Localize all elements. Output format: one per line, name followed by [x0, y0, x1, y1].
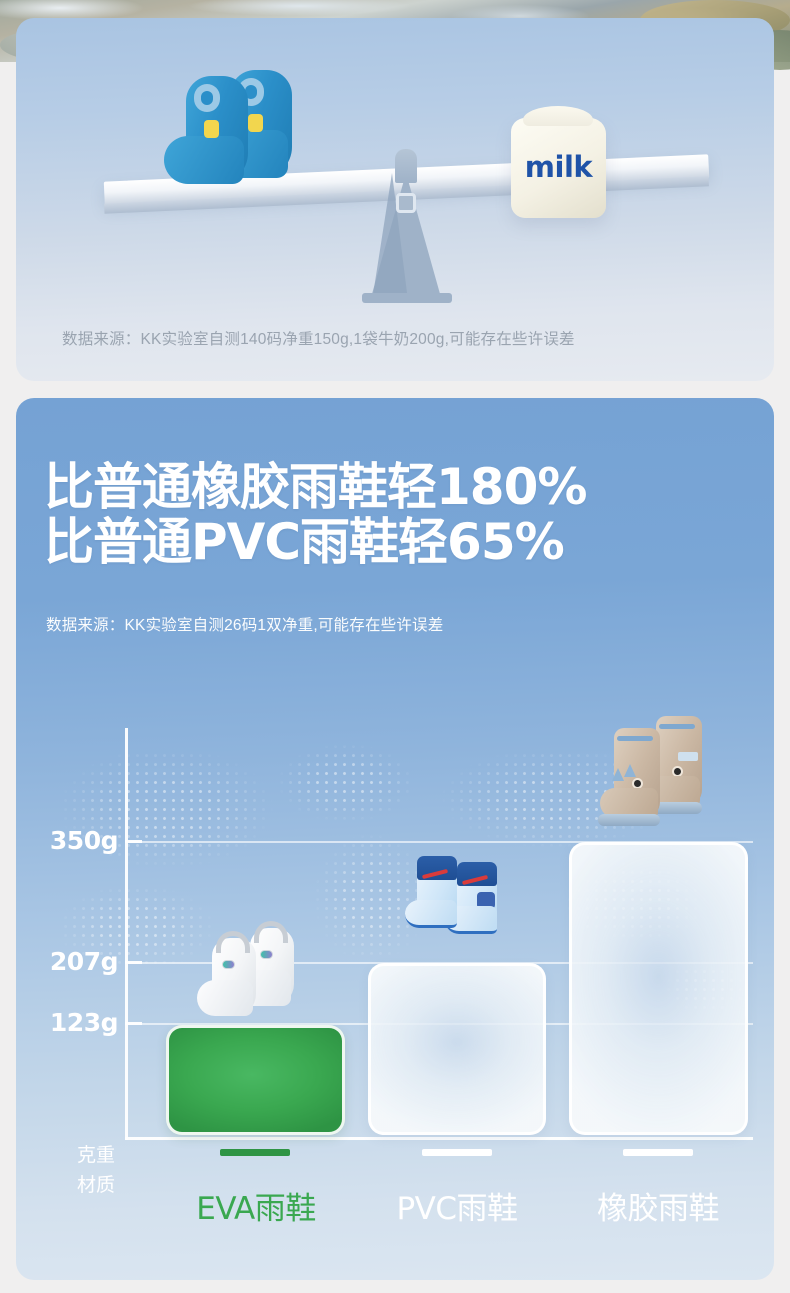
pvc-boot-foot-icon	[405, 900, 457, 928]
category-label-eva: EVA雨鞋	[146, 1183, 366, 1228]
weight-bar-chart: 350g 207g 123g 克重 材质 EVA雨鞋 PVC雨鞋 橡胶雨鞋	[16, 398, 774, 1280]
y-axis-label-123: 123g	[22, 1008, 118, 1037]
rubber-boots-image	[608, 716, 712, 828]
rubber-boot-tag-icon	[678, 752, 698, 761]
eva-boots-image	[204, 926, 304, 1024]
axis-caption-weight: 克重	[66, 1140, 126, 1167]
boot-tag-icon	[248, 114, 263, 132]
eva-boot-foot-icon	[197, 980, 253, 1016]
bar-underline-eva	[220, 1149, 290, 1156]
chart-x-axis	[125, 1137, 753, 1140]
y-axis-label-207: 207g	[22, 947, 118, 976]
category-label-rubber: 橡胶雨鞋	[548, 1183, 768, 1228]
weight-comparison-card: 比普通橡胶雨鞋轻180% 比普通PVC雨鞋轻65% 数据来源：KK实验室自测26…	[16, 398, 774, 1280]
eva-boot-eye-icon	[260, 950, 273, 959]
tick-123	[125, 1022, 142, 1025]
rubber-boot-front-icon	[614, 728, 660, 818]
bar-rubber	[569, 842, 748, 1135]
boot-tag-icon	[204, 120, 219, 138]
milk-bag-fold	[523, 106, 593, 126]
eva-boot-eye-icon	[222, 960, 235, 969]
pvc-boots-image	[413, 856, 505, 948]
boot-handle-icon	[194, 84, 220, 112]
fulcrum-base	[362, 293, 452, 303]
pvc-boot-back-icon	[457, 862, 497, 934]
pvc-boot-front-icon	[417, 856, 457, 928]
blue-rain-boots-image	[186, 70, 331, 188]
rubber-boot-spike-icon	[612, 768, 624, 781]
rubber-boot-spike-icon	[624, 764, 636, 777]
chart-y-axis	[125, 728, 128, 1140]
fulcrum-tip-icon	[395, 149, 417, 183]
tick-350	[125, 840, 142, 843]
blue-boot-front-icon	[186, 76, 248, 184]
eva-boot-handle-icon	[216, 931, 250, 953]
boot-foot-icon	[164, 136, 244, 184]
rubber-boot-sole-icon	[598, 814, 660, 826]
bar-eva	[166, 1025, 345, 1135]
bar-underline-pvc	[422, 1149, 492, 1156]
eva-boot-front-icon	[212, 938, 256, 1016]
axis-caption-material: 材质	[66, 1170, 126, 1197]
y-axis-label-350: 350g	[22, 826, 118, 855]
seesaw-fulcrum	[370, 173, 442, 301]
milk-bag-image: milk	[511, 118, 606, 218]
bar-underline-rubber	[623, 1149, 693, 1156]
tick-207	[125, 961, 142, 964]
seesaw-comparison-card: milk 数据来源：KK实验室自测140码净重150g,1袋牛奶200g,可能存…	[16, 18, 774, 381]
rubber-boot-strap-icon	[659, 724, 695, 729]
rubber-boot-back-icon	[656, 716, 702, 806]
eva-boot-back-icon	[250, 928, 294, 1006]
bar-pvc	[368, 963, 546, 1135]
milk-bag-label: milk	[511, 150, 606, 184]
data-source-note-1: 数据来源：KK实验室自测140码净重150g,1袋牛奶200g,可能存在些许误差	[62, 327, 575, 349]
category-label-pvc: PVC雨鞋	[347, 1183, 567, 1228]
product-detail-page: milk 数据来源：KK实验室自测140码净重150g,1袋牛奶200g,可能存…	[0, 0, 790, 1293]
eva-boot-handle-icon	[254, 921, 288, 943]
fulcrum-bolt-icon	[396, 193, 416, 213]
rubber-boot-strap-icon	[617, 736, 653, 741]
